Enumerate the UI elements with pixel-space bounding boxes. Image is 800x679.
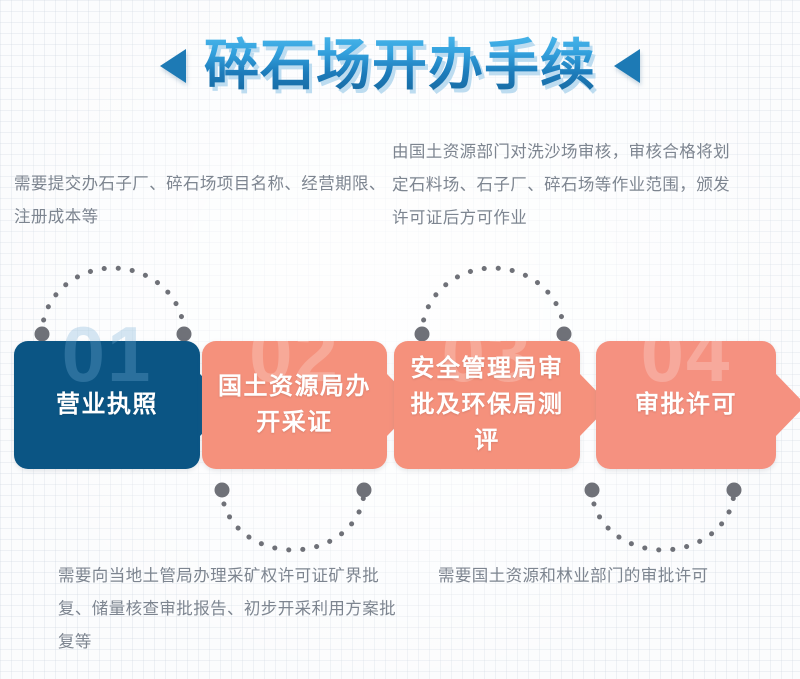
flow-step-3-label: 安全管理局审批及环保局测评: [394, 351, 580, 459]
connector-arc-bottom-left: [214, 482, 372, 562]
flow-step-1-label: 营业执照: [50, 387, 164, 423]
page-title-bar: 碎石场开办手续 碎石场开办手续: [0, 18, 800, 113]
flow-step-2[interactable]: 02 国土资源局办开采证: [202, 341, 387, 469]
description-bottom-right: 需要国土资源和林业部门的审批许可: [438, 560, 798, 593]
flow-step-2-label: 国土资源局办开采证: [202, 369, 387, 441]
connector-arc-top-right: [414, 258, 572, 344]
flow-step-4-number: 04: [641, 315, 732, 393]
chevron-tip-icon: [775, 373, 800, 437]
triangle-left-icon-right: [614, 49, 640, 83]
description-top-left: 需要提交办石子厂、碎石场项目名称、经营期限、注册成本等: [14, 168, 386, 234]
flow-step-1[interactable]: 01 营业执照: [14, 341, 200, 469]
process-flow: 01 营业执照 02 国土资源局办开采证 03 安全管理局审批及环保局测评 04…: [0, 341, 800, 469]
flow-step-4-label: 审批许可: [629, 387, 743, 423]
infographic-root: 碎石场开办手续 碎石场开办手续 需要提交办石子厂、碎石场项目名称、经营期限、注册…: [0, 0, 800, 679]
flow-step-3[interactable]: 03 安全管理局审批及环保局测评: [394, 341, 580, 469]
triangle-left-icon: [160, 49, 186, 83]
connector-arc-bottom-right: [584, 482, 742, 562]
page-title: 碎石场开办手续 碎石场开办手续: [204, 38, 596, 93]
description-bottom-left: 需要向当地土管局办理采矿权许可证矿界批复、储量核查审批报告、初步开采利用方案批复…: [58, 560, 408, 659]
connector-arc-top-left: [34, 258, 192, 344]
description-top-right: 由国土资源部门对洗沙场审核，审核合格将划定石料场、石子厂、碎石场等作业范围，颁发…: [392, 136, 740, 235]
flow-step-4[interactable]: 04 审批许可: [596, 341, 776, 469]
page-title-text: 碎石场开办手续: [204, 34, 596, 96]
